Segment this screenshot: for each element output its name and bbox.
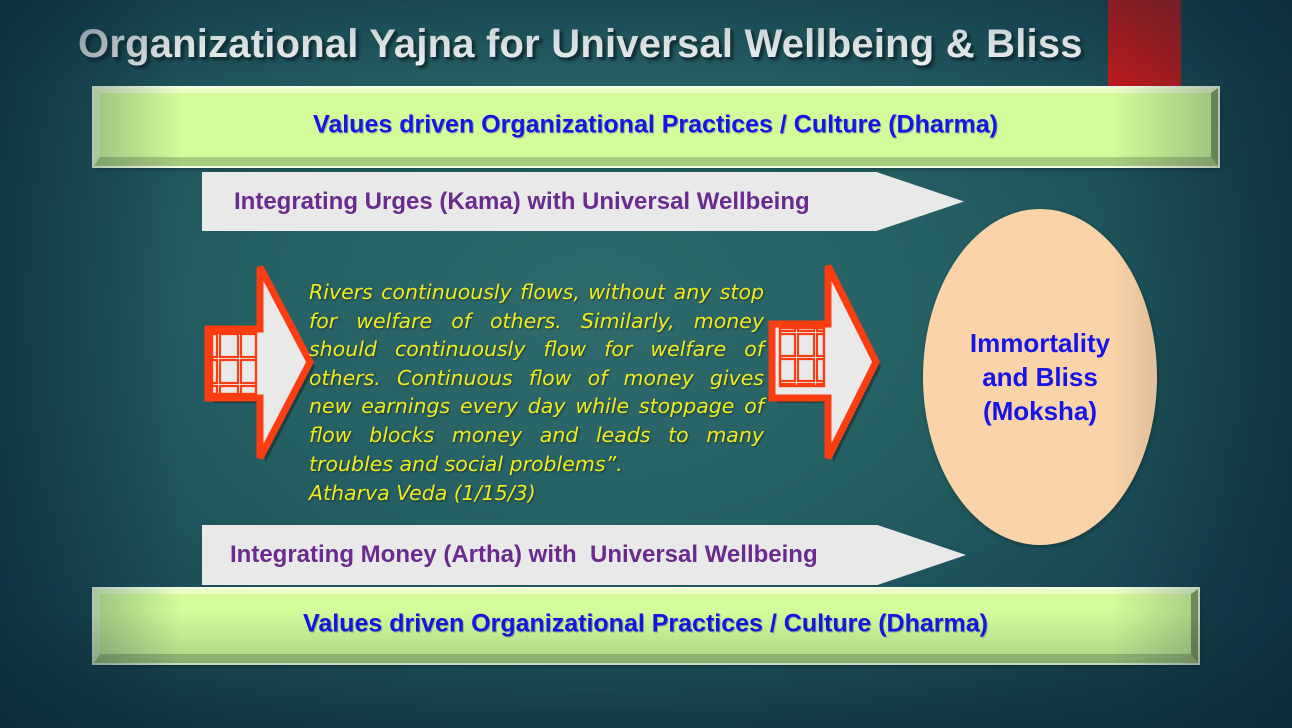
- dharma-bar-bottom[interactable]: Values driven Organizational Practices /…: [94, 589, 1198, 663]
- brick-block-arrow-right-icon: [778, 258, 880, 468]
- moksha-outcome-label: Immortality and Bliss (Moksha): [970, 326, 1110, 428]
- dharma-bar-bottom-label: Values driven Organizational Practices /…: [100, 610, 1191, 639]
- page-title: Organizational Yajna for Universal Wellb…: [78, 13, 1108, 75]
- dharma-bar-top[interactable]: Values driven Organizational Practices /…: [94, 88, 1218, 166]
- decorative-red-block: [1108, 0, 1181, 86]
- dharma-bar-top-label: Values driven Organizational Practices /…: [100, 111, 1211, 140]
- brick-block-arrow-left-icon: [198, 255, 318, 470]
- moksha-outcome-ellipse[interactable]: Immortality and Bliss (Moksha): [923, 209, 1157, 545]
- banner-artha[interactable]: Integrating Money (Artha) with Universal…: [202, 525, 966, 585]
- slide-canvas: Organizational Yajna for Universal Wellb…: [0, 0, 1292, 728]
- banner-kama-label: Integrating Urges (Kama) with Universal …: [234, 188, 810, 216]
- quotation-text: Rivers continuously flows, without any s…: [309, 278, 764, 478]
- banner-artha-label: Integrating Money (Artha) with Universal…: [230, 541, 818, 569]
- quotation-source: Atharva Veda (1/15/3): [309, 479, 764, 508]
- banner-kama[interactable]: Integrating Urges (Kama) with Universal …: [202, 172, 964, 231]
- quotation-block: Rivers continuously flows, without any s…: [309, 278, 764, 508]
